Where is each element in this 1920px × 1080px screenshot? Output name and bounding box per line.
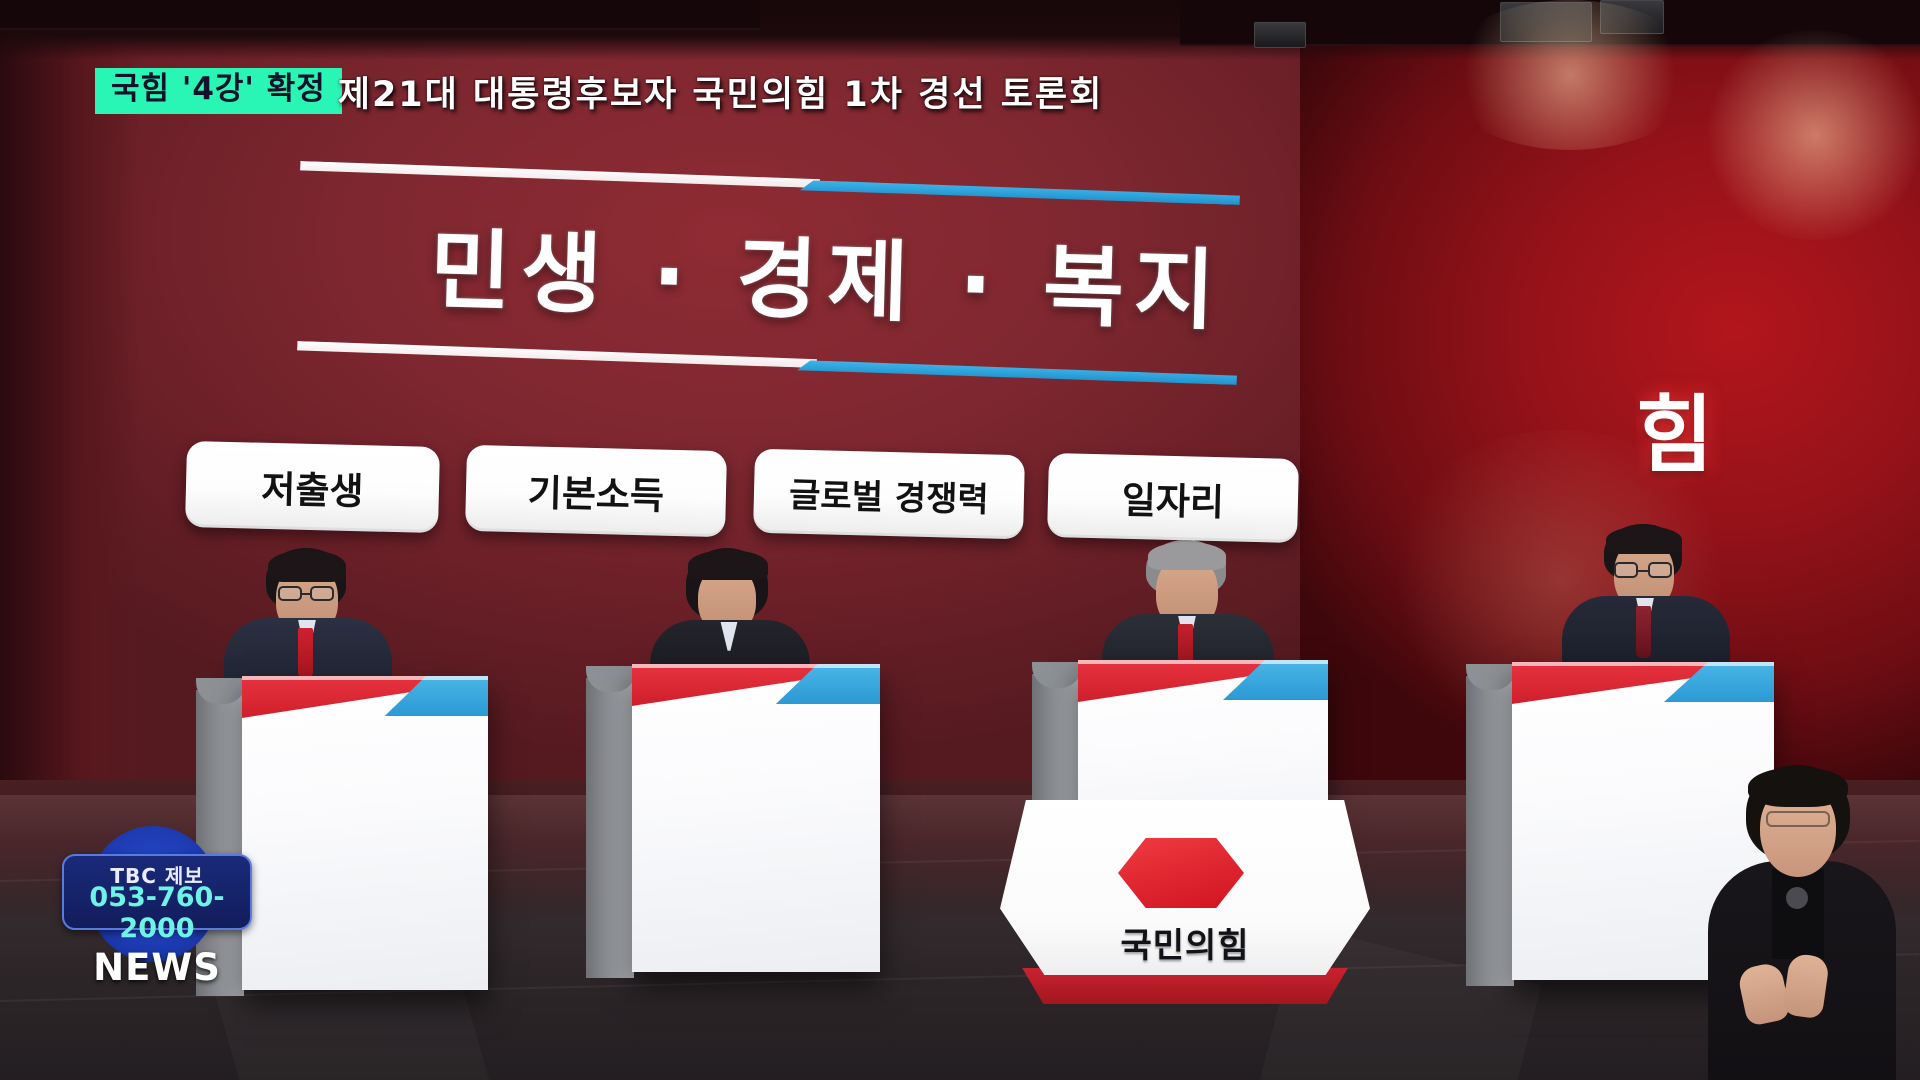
podium-1-front: [242, 676, 488, 990]
podium-2-side: [586, 678, 634, 978]
title-bar-white-top: [300, 161, 820, 188]
candidate-4: [1556, 524, 1736, 680]
interpreter-fringe: [1748, 767, 1848, 807]
candidate-1-glasses: [278, 586, 302, 601]
topic-chip-4[interactable]: 일자리: [1047, 453, 1299, 543]
wall-right-party-glyph: 힘: [1636, 368, 1736, 489]
topic-chip-2[interactable]: 기본소득: [465, 445, 727, 537]
interpreter-inner-top: [1772, 869, 1824, 959]
headline-badge: 국힘 '4강' 확정: [95, 68, 342, 115]
candidate-4-glasses: [1614, 562, 1638, 578]
candidate-4-glasses-right: [1648, 562, 1672, 578]
station-bug-phone: 053-760-2000: [62, 882, 252, 944]
interpreter-glasses-icon: [1766, 811, 1830, 827]
station-bug-news: NEWS: [62, 946, 252, 989]
topic-chip-1-label: 저출생: [261, 459, 364, 515]
topic-chip-4-label: 일자리: [1121, 470, 1224, 526]
podium-2-top-edge: [632, 664, 880, 668]
podium-1-top-edge: [242, 676, 488, 680]
candidate-1-glasses-bridge: [302, 593, 310, 595]
candidate-4-fringe: [1606, 526, 1682, 554]
candidate-1-glasses-right: [310, 586, 334, 601]
title-bar-white-bottom: [297, 341, 817, 368]
candidate-1-fringe: [268, 550, 346, 582]
candidate-3-fringe: [1148, 542, 1226, 570]
topic-chip-3[interactable]: 글로벌 경쟁력: [753, 449, 1025, 540]
topic-chip-2-label: 기본소득: [527, 462, 664, 519]
candidate-4-glasses-bridge: [1638, 570, 1648, 572]
candidate-1-tie: [298, 628, 313, 678]
sign-language-interpreter: [1690, 765, 1920, 1080]
podium-1: [242, 676, 488, 990]
podium-3-top-edge: [1078, 660, 1328, 664]
interpreter-microphone-icon: [1786, 887, 1808, 909]
topic-chip-3-label: 글로벌 경쟁력: [789, 467, 990, 521]
podium-4-top-edge: [1512, 662, 1774, 666]
podium-2-front: [632, 664, 880, 972]
wall-title-text: 민생 · 경제 · 복지: [428, 200, 1226, 348]
candidate-2-fringe: [688, 550, 768, 580]
podium-4-side: [1466, 676, 1514, 986]
title-bar-blue-top: [800, 180, 1240, 205]
headline-overlay: 국힘 '4강' 확정 제21대 대통령후보자 국민의힘 1차 경선 토론회: [0, 62, 1300, 120]
headline-main-text: 제21대 대통령후보자 국민의힘 1차 경선 토론회: [338, 66, 1104, 117]
topic-chip-1[interactable]: 저출생: [185, 441, 440, 533]
broadcast-screenshot: 민생 · 경제 · 복지 힘 저출생 기본소득 글로벌 경쟁력 일자리: [0, 0, 1920, 1080]
party-logo-text: 국민의힘: [1000, 918, 1370, 967]
candidate-4-tie: [1636, 606, 1651, 658]
title-bar-blue-bottom: [797, 360, 1237, 385]
podium-2: [632, 664, 880, 972]
